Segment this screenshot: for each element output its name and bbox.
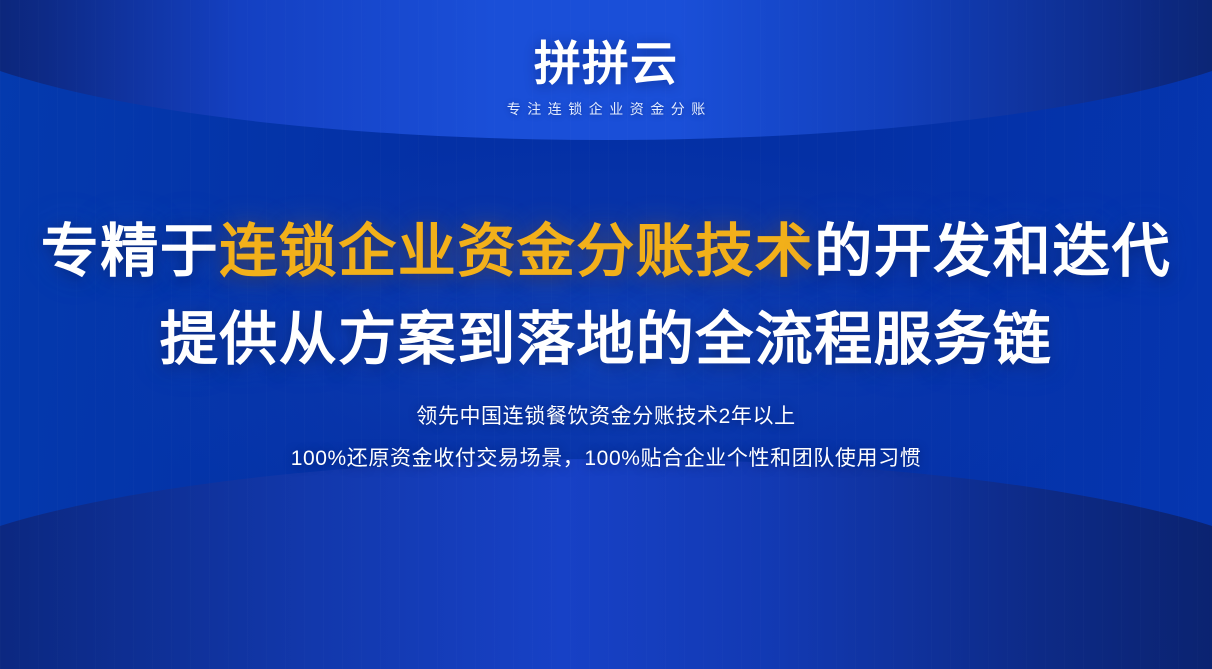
subcopy-block: 领先中国连锁餐饮资金分账技术2年以上 100%还原资金收付交易场景，100%贴合… bbox=[0, 396, 1212, 480]
brand-tagline: 专注连锁企业资金分账 bbox=[0, 102, 1212, 116]
headline-line-1-highlight: 连锁企业资金分账技术 bbox=[219, 219, 814, 284]
headline-line-1-prefix: 专精于 bbox=[41, 219, 220, 284]
headline-line-1: 专精于连锁企业资金分账技术的开发和迭代 bbox=[0, 208, 1212, 296]
brand-lockup: 拼拼云 专注连锁企业资金分账 bbox=[0, 40, 1212, 116]
brand-name: 拼拼云 bbox=[0, 40, 1212, 87]
slide-content: 拼拼云 专注连锁企业资金分账 专精于连锁企业资金分账技术的开发和迭代 提供从方案… bbox=[0, 0, 1212, 669]
promo-slide: 拼拼云 专注连锁企业资金分账 专精于连锁企业资金分账技术的开发和迭代 提供从方案… bbox=[0, 0, 1212, 669]
subcopy-line-1: 领先中国连锁餐饮资金分账技术2年以上 bbox=[0, 396, 1212, 438]
headline-block: 专精于连锁企业资金分账技术的开发和迭代 提供从方案到落地的全流程服务链 bbox=[0, 208, 1212, 384]
headline-line-1-suffix: 的开发和迭代 bbox=[814, 219, 1171, 284]
headline-line-2: 提供从方案到落地的全流程服务链 bbox=[0, 296, 1212, 384]
subcopy-line-2: 100%还原资金收付交易场景，100%贴合企业个性和团队使用习惯 bbox=[0, 438, 1212, 480]
